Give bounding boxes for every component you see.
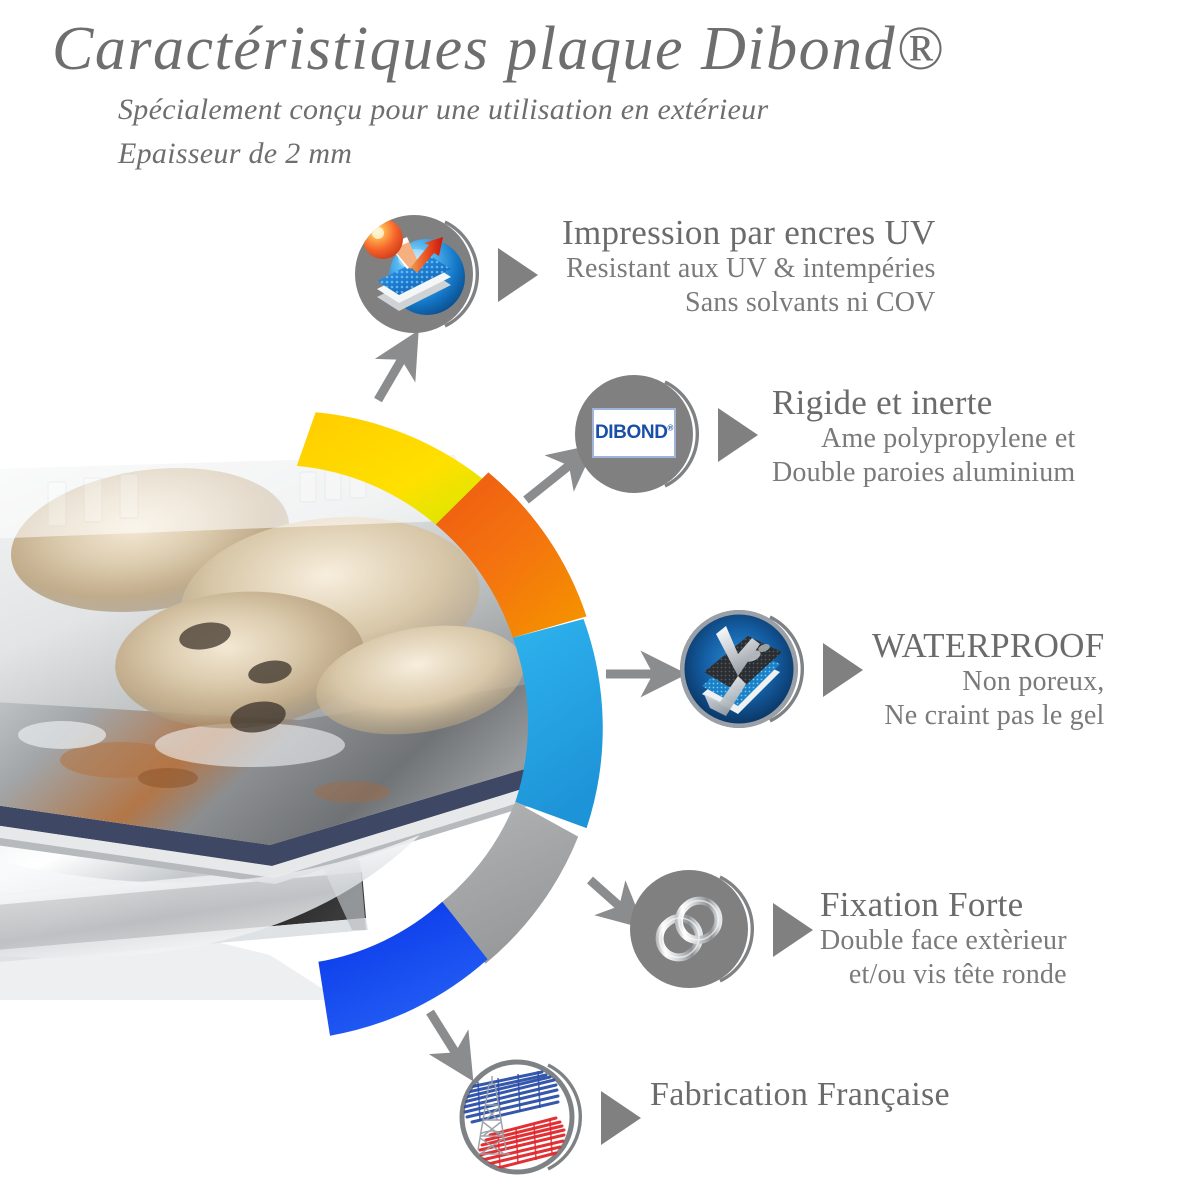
dibond-logo-box: DIBOND® — [592, 408, 676, 458]
infographic-stage: Impression par encres UV Resistant aux U… — [0, 0, 1199, 1199]
feature-title: Fabrication Française — [650, 1077, 950, 1113]
light-blue-segment — [513, 619, 603, 828]
waterproof-layers-icon-wrap — [680, 610, 810, 740]
feature-title: WATERPROOF — [872, 628, 1104, 665]
feature-subtitle-2: et/ou vis tête ronde — [820, 958, 1067, 992]
chain-link-icon-wrap — [630, 870, 760, 1000]
color-arc-diagram — [0, 0, 1199, 1199]
dibond-layer-cross-section — [0, 818, 368, 1000]
triangle-pointer-icon — [718, 408, 758, 462]
feature-subtitle-2: Sans solvants ni COV — [562, 286, 936, 320]
feature-title: Impression par encres UV — [562, 215, 936, 252]
triangle-pointer-icon — [498, 248, 538, 302]
blue-segment — [318, 902, 487, 1036]
feature-subtitle-2: Ne craint pas le gel — [872, 699, 1104, 733]
feature-text-block: Fabrication Française — [650, 1077, 950, 1113]
arc-segments — [297, 412, 603, 1035]
feature-text-block: WATERPROOF Non poreux, Ne craint pas le … — [872, 628, 1104, 733]
feature-subtitle-2: Double paroies aluminium — [772, 456, 1075, 490]
arrow-to-uv — [378, 352, 406, 400]
feature-subtitle-1: Ame polypropylene et — [772, 422, 1075, 456]
registered-mark-icon: ® — [668, 424, 674, 433]
feature-text-block: Impression par encres UV Resistant aux U… — [562, 215, 936, 320]
arrow-to-fix — [590, 880, 626, 912]
uv-ink-print-icon-wrap — [355, 215, 485, 345]
triangle-pointer-icon — [823, 643, 863, 697]
triangle-pointer-icon — [773, 903, 813, 957]
french-flag-eiffel-icon-wrap — [458, 1058, 588, 1188]
feature-text-block: Rigide et inerte Ame polypropylene et Do… — [772, 385, 1075, 490]
connector-arrows — [0, 0, 1199, 1199]
yellow-segment — [297, 412, 493, 524]
printed-panel — [0, 451, 561, 958]
dibond-panel-dog-photo — [0, 0, 1199, 1199]
chain-link-icon — [630, 870, 748, 988]
dibond-logo-icon-wrap: DIBOND® — [575, 375, 705, 505]
feature-subtitle-1: Double face extèrieur — [820, 924, 1067, 958]
feature-subtitle-1: Resistant aux UV & intempéries — [562, 252, 936, 286]
uv-ink-print-icon — [355, 215, 473, 333]
feature-text-block: Fixation Forte Double face extèrieur et/… — [820, 887, 1067, 992]
feature-title: Fixation Forte — [820, 887, 1067, 924]
orange-segment — [436, 472, 587, 637]
french-flag-eiffel-icon — [458, 1058, 576, 1176]
feature-subtitle-1: Non poreux, — [872, 665, 1104, 699]
dibond-logo-text: DIBOND® — [595, 422, 673, 444]
gray-segment — [442, 802, 578, 964]
triangle-pointer-icon — [601, 1091, 641, 1145]
feature-title: Rigide et inerte — [772, 385, 1075, 422]
waterproof-layers-icon — [680, 610, 798, 728]
